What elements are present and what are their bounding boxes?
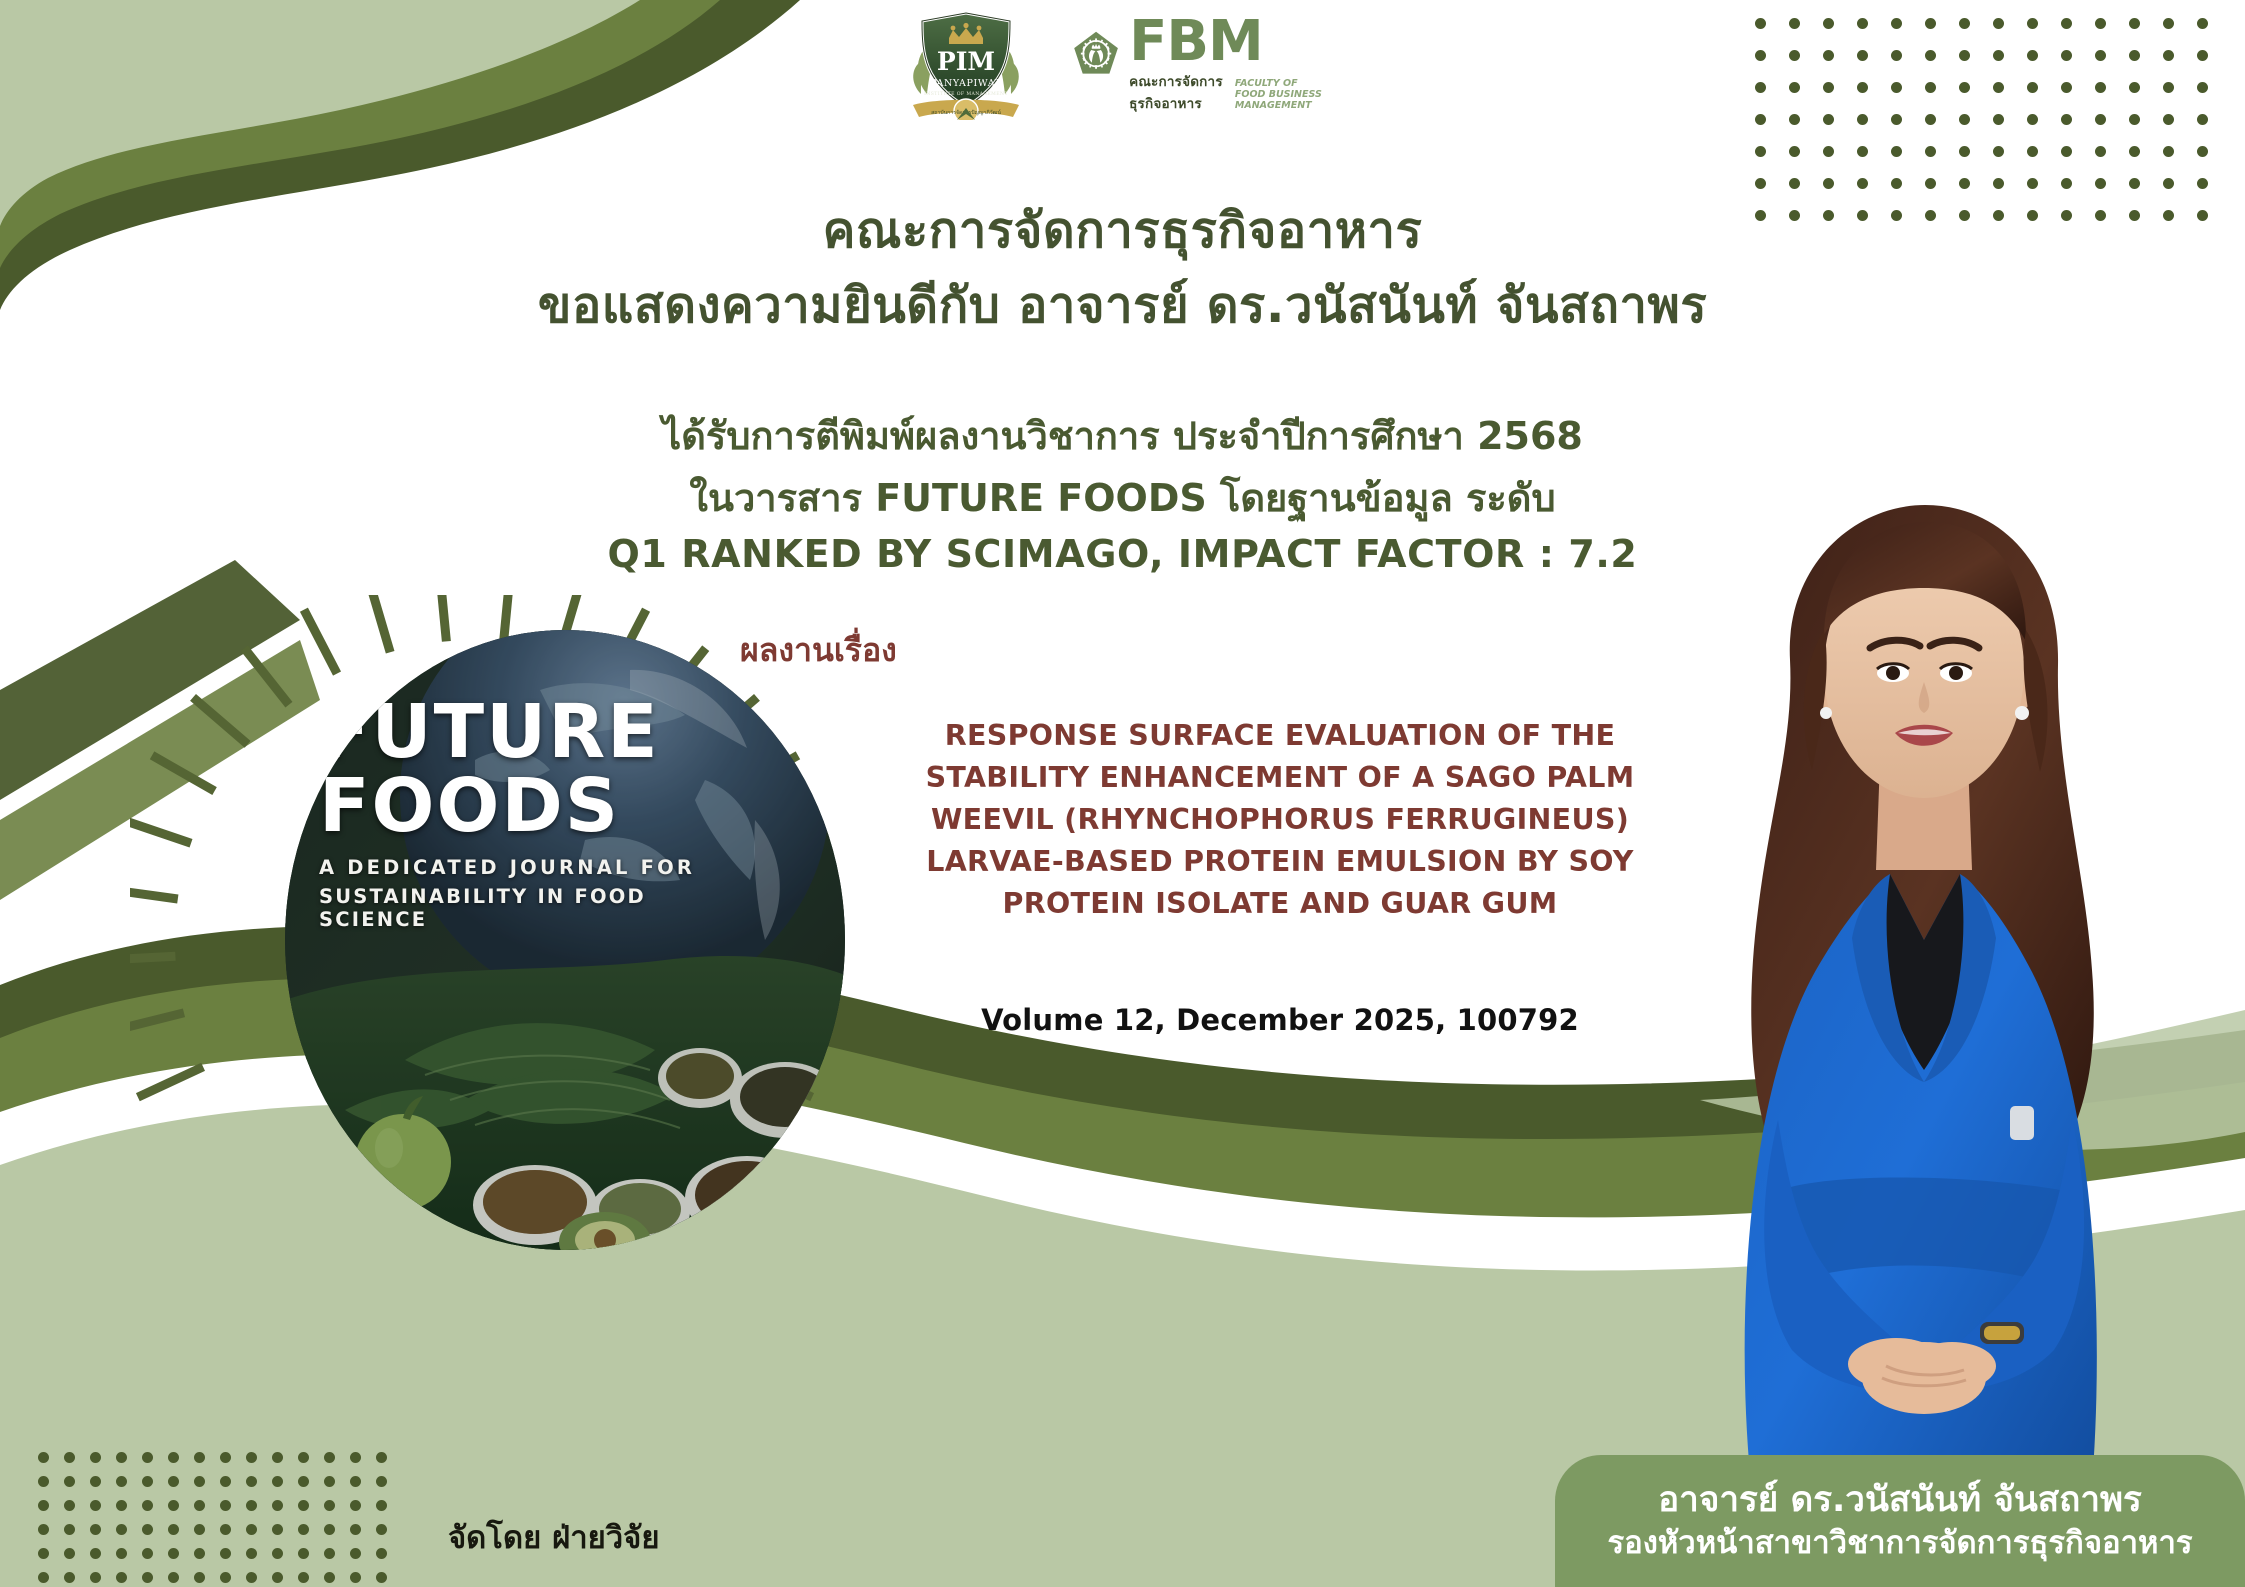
decorative-dot (272, 1548, 283, 1559)
decorative-dot (1823, 178, 1834, 189)
decorative-dot (2061, 50, 2072, 61)
decorative-dot (90, 1548, 101, 1559)
fbm-english-line2: FOOD BUSINESS MANAGEMENT (1235, 89, 1322, 111)
pim-acronym: PIM (937, 47, 995, 76)
decorative-dot (220, 1500, 231, 1511)
pim-logo: PIM PANYAPIWAT INSTITUTE OF MANAGEMENT ส… (905, 8, 1027, 116)
decorative-dot (1823, 114, 1834, 125)
decorative-dot (220, 1524, 231, 1535)
sunburst-ray (130, 956, 175, 960)
decorative-dot (38, 1548, 49, 1559)
decorative-dot (298, 1548, 309, 1559)
decorative-dot (194, 1548, 205, 1559)
pim-name: PANYAPIWAT (930, 78, 1001, 89)
decorative-dot (1789, 146, 1800, 157)
decorative-dot (376, 1524, 387, 1535)
fbm-thai-name: คณะการจัดการธุรกิจอาหาร (1129, 70, 1229, 114)
decorative-dot (1823, 50, 1834, 61)
decorative-dot (272, 1524, 283, 1535)
decorative-dot (2197, 178, 2208, 189)
decorative-dot (168, 1476, 179, 1487)
pim-tagline: INSTITUTE OF MANAGEMENT (924, 91, 1008, 97)
journal-cover-graphic: FUTURE FOODS A DEDICATED JOURNAL FOR SUS… (130, 595, 820, 1285)
decorative-dot (1857, 178, 1868, 189)
decorative-dot (246, 1500, 257, 1511)
decorative-dot (1755, 146, 1766, 157)
decorative-dot (324, 1500, 335, 1511)
decorative-dot (2027, 146, 2038, 157)
decorative-dot (2061, 178, 2072, 189)
decorative-dot (168, 1524, 179, 1535)
decorative-dot (1959, 146, 1970, 157)
decorative-dot (1857, 114, 1868, 125)
name-badge: อาจารย์ ดร.วนัสนันท์ จันสถาพร รองหัวหน้า… (1555, 1455, 2245, 1587)
decorative-dot (2027, 178, 2038, 189)
dot-grid-bottom-left (38, 1452, 402, 1587)
decorative-dot (324, 1548, 335, 1559)
decorative-dot (1755, 114, 1766, 125)
decorative-dot (350, 1524, 361, 1535)
decorative-dot (1993, 82, 2004, 93)
decorative-dot (2027, 114, 2038, 125)
decorative-dot (272, 1500, 283, 1511)
decorative-dot (1857, 146, 1868, 157)
decorative-dot (1755, 50, 1766, 61)
decorative-dot (1857, 50, 1868, 61)
decorative-dot (1993, 50, 2004, 61)
decorative-dot (1925, 178, 1936, 189)
journal-cover-image: FUTURE FOODS A DEDICATED JOURNAL FOR SUS… (285, 630, 845, 1250)
decorative-dot (2129, 18, 2140, 29)
decorative-dot (168, 1572, 179, 1583)
decorative-dot (1891, 82, 1902, 93)
fbm-acronym: FBM (1129, 16, 1335, 68)
decorative-dot (376, 1548, 387, 1559)
decorative-dot (38, 1476, 49, 1487)
decorative-dot (246, 1524, 257, 1535)
decorative-dot (1789, 50, 1800, 61)
decorative-dot (1993, 178, 2004, 189)
decorative-dot (1959, 18, 1970, 29)
decorative-dot (2163, 178, 2174, 189)
decorative-dot (2197, 82, 2208, 93)
body-publication-year: ได้รับการตีพิมพ์ผลงานวิชาการ ประจำปีการศ… (0, 410, 2245, 462)
sunburst-ray (130, 1013, 184, 1030)
decorative-dot (194, 1452, 205, 1463)
decorative-dot (142, 1548, 153, 1559)
sunburst-ray (130, 820, 191, 843)
paper-volume: Volume 12, December 2025, 100792 (860, 1003, 1700, 1037)
decorative-dot (1823, 146, 1834, 157)
paper-title: RESPONSE SURFACE EVALUATION OF THE STABI… (860, 715, 1700, 925)
decorative-dot (142, 1452, 153, 1463)
decorative-dot (246, 1548, 257, 1559)
decorative-dot (2129, 82, 2140, 93)
decorative-dot (1823, 18, 1834, 29)
decorative-dot (298, 1500, 309, 1511)
organizer-credit: จัดโดย ฝ่ายวิจัย (448, 1512, 660, 1562)
decorative-dot (1891, 50, 1902, 61)
person-photo (1580, 470, 2220, 1530)
sunburst-ray (244, 648, 289, 704)
decorative-dot (376, 1500, 387, 1511)
sunburst-ray (152, 755, 215, 791)
decorative-dot (1891, 178, 1902, 189)
decorative-dot (1789, 114, 1800, 125)
decorative-dot (194, 1524, 205, 1535)
decorative-dot (2129, 114, 2140, 125)
decorative-dot (2129, 50, 2140, 61)
decorative-dot (220, 1476, 231, 1487)
decorative-dot (298, 1524, 309, 1535)
decorative-dot (2163, 114, 2174, 125)
decorative-dot (1891, 114, 1902, 125)
decorative-dot (2027, 18, 2038, 29)
decorative-dot (350, 1500, 361, 1511)
decorative-dot (2095, 18, 2106, 29)
decorative-dot (90, 1476, 101, 1487)
decorative-dot (64, 1476, 75, 1487)
decorative-dot (272, 1572, 283, 1583)
badge-person-name: อาจารย์ ดร.วนัสนันท์ จันสถาพร (1658, 1479, 2142, 1521)
decorative-dot (2163, 146, 2174, 157)
journal-title-line1: FUTURE (319, 696, 739, 768)
decorative-dot (194, 1476, 205, 1487)
decorative-dot (64, 1548, 75, 1559)
decorative-dot (2027, 82, 2038, 93)
decorative-dot (2197, 50, 2208, 61)
decorative-dot (2061, 146, 2072, 157)
decorative-dot (64, 1572, 75, 1583)
fbm-pentagon-icon (1073, 16, 1119, 90)
decorative-dot (2129, 146, 2140, 157)
decorative-dot (2163, 18, 2174, 29)
badge-person-role: รองหัวหน้าสาขาวิชาการจัดการธุรกิจอาหาร (1607, 1523, 2192, 1563)
decorative-dot (1789, 18, 1800, 29)
decorative-dot (2061, 18, 2072, 29)
decorative-dot (1993, 18, 2004, 29)
decorative-dot (298, 1572, 309, 1583)
decorative-dot (350, 1572, 361, 1583)
decorative-dot (1823, 82, 1834, 93)
decorative-dot (1959, 178, 1970, 189)
decorative-dot (2095, 50, 2106, 61)
journal-tagline-line1: A DEDICATED JOURNAL FOR (319, 856, 739, 879)
decorative-dot (2061, 114, 2072, 125)
decorative-dot (1959, 114, 1970, 125)
decorative-dot (194, 1500, 205, 1511)
decorative-dot (272, 1476, 283, 1487)
decorative-dot (116, 1548, 127, 1559)
decorative-dot (142, 1500, 153, 1511)
decorative-dot (2163, 82, 2174, 93)
decorative-dot (2095, 178, 2106, 189)
decorative-dot (38, 1452, 49, 1463)
decorative-dot (1755, 82, 1766, 93)
decorative-dot (2061, 82, 2072, 93)
decorative-dot (1993, 146, 2004, 157)
decorative-dot (2197, 114, 2208, 125)
decorative-dot (64, 1524, 75, 1535)
decorative-dot (298, 1452, 309, 1463)
decorative-dot (2095, 114, 2106, 125)
decorative-dot (350, 1476, 361, 1487)
decorative-dot (376, 1476, 387, 1487)
journal-tagline-line2: SUSTAINABILITY IN FOOD SCIENCE (319, 885, 739, 931)
decorative-dot (90, 1452, 101, 1463)
sunburst-ray (193, 697, 248, 744)
decorative-dot (1925, 114, 1936, 125)
decorative-dot (298, 1476, 309, 1487)
decorative-dot (1959, 50, 1970, 61)
decorative-dot (1789, 178, 1800, 189)
decorative-dot (1857, 18, 1868, 29)
decorative-dot (1925, 146, 1936, 157)
decorative-dot (324, 1452, 335, 1463)
decorative-dot (2095, 82, 2106, 93)
decorative-dot (142, 1572, 153, 1583)
decorative-dot (1891, 18, 1902, 29)
decorative-dot (272, 1452, 283, 1463)
decorative-dot (324, 1572, 335, 1583)
decorative-dot (324, 1476, 335, 1487)
decorative-dot (246, 1452, 257, 1463)
fbm-english-line1: FACULTY OF (1235, 78, 1298, 89)
decorative-dot (38, 1524, 49, 1535)
decorative-dot (350, 1452, 361, 1463)
poster-canvas: PIM PANYAPIWAT INSTITUTE OF MANAGEMENT ส… (0, 0, 2245, 1587)
decorative-dot (116, 1500, 127, 1511)
decorative-dot (1755, 18, 1766, 29)
decorative-dot (38, 1572, 49, 1583)
decorative-dot (2197, 146, 2208, 157)
decorative-dot (1857, 82, 1868, 93)
decorative-dot (168, 1452, 179, 1463)
decorative-dot (142, 1476, 153, 1487)
heading-congratulations: ขอแสดงความยินดีกับ อาจารย์ ดร.วนัสนันท์ … (0, 275, 2245, 337)
decorative-dot (116, 1572, 127, 1583)
decorative-dot (220, 1548, 231, 1559)
decorative-dot (116, 1476, 127, 1487)
journal-cover-text: FUTURE FOODS A DEDICATED JOURNAL FOR SUS… (319, 696, 739, 931)
decorative-dot (1789, 82, 1800, 93)
decorative-dot (246, 1572, 257, 1583)
decorative-dot (2197, 18, 2208, 29)
pim-shield-icon: PIM PANYAPIWAT INSTITUTE OF MANAGEMENT ส… (905, 8, 1027, 120)
decorative-dot (1755, 178, 1766, 189)
decorative-dot (376, 1452, 387, 1463)
decorative-dot (168, 1548, 179, 1559)
decorative-dot (2095, 146, 2106, 157)
decorative-dot (116, 1452, 127, 1463)
decorative-dot (350, 1548, 361, 1559)
decorative-dot (194, 1572, 205, 1583)
fbm-logo: FBM คณะการจัดการธุรกิจอาหาร FACULTY OF F… (1073, 8, 1335, 114)
decorative-dot (1925, 18, 1936, 29)
journal-title-line2: FOODS (319, 768, 739, 844)
decorative-dot (376, 1572, 387, 1583)
heading-faculty: คณะการจัดการธุรกิจอาหาร (0, 200, 2245, 262)
decorative-dot (142, 1524, 153, 1535)
decorative-dot (90, 1572, 101, 1583)
decorative-dot (116, 1524, 127, 1535)
decorative-dot (2163, 50, 2174, 61)
decorative-dot (64, 1452, 75, 1463)
logo-row: PIM PANYAPIWAT INSTITUTE OF MANAGEMENT ส… (905, 8, 1335, 116)
sunburst-ray (130, 889, 178, 899)
decorative-dot (324, 1524, 335, 1535)
decorative-dot (90, 1524, 101, 1535)
decorative-dot (220, 1572, 231, 1583)
decorative-dot (38, 1500, 49, 1511)
sunburst-ray (138, 1067, 203, 1097)
decorative-dot (1925, 82, 1936, 93)
decorative-dot (168, 1500, 179, 1511)
decorative-dot (246, 1476, 257, 1487)
decorative-dot (1993, 114, 2004, 125)
decorative-dot (2027, 50, 2038, 61)
decorative-dot (1891, 146, 1902, 157)
decorative-dot (220, 1452, 231, 1463)
decorative-dot (1959, 82, 1970, 93)
decorative-dot (2129, 178, 2140, 189)
decorative-dot (1925, 50, 1936, 61)
decorative-dot (90, 1500, 101, 1511)
decorative-dot (64, 1500, 75, 1511)
